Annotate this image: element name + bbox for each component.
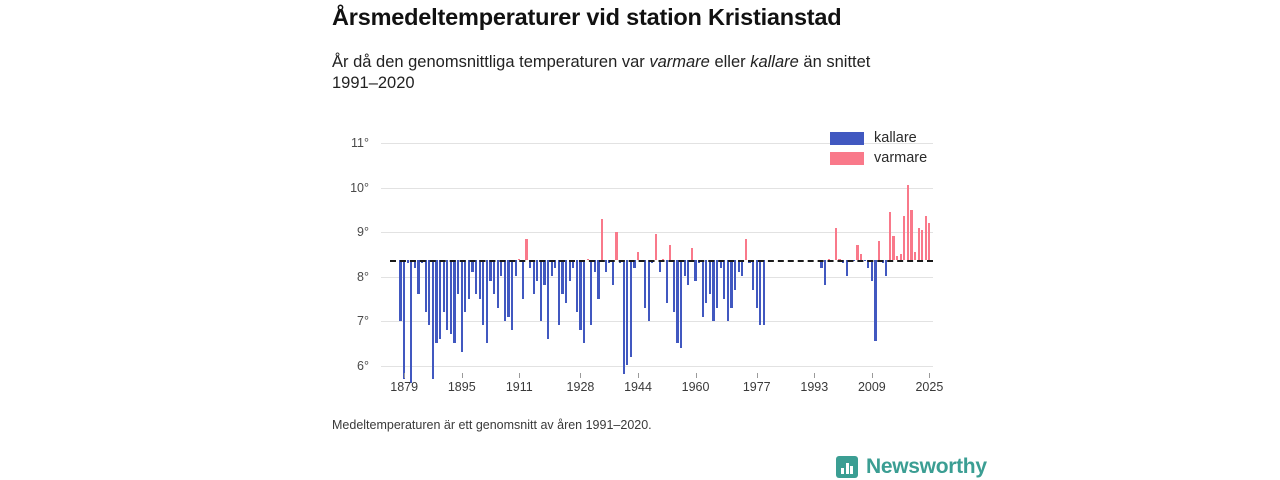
chart-bar[interactable]: [878, 241, 880, 260]
chart-bar[interactable]: [630, 260, 632, 357]
chart-bar[interactable]: [432, 260, 434, 379]
x-axis-label: 2025: [899, 380, 959, 394]
chart-bar[interactable]: [918, 228, 920, 260]
x-axis-tick: [696, 373, 697, 378]
chart-footnote: Medeltemperaturen är ett genomsnitt av å…: [332, 418, 652, 432]
chart-bar[interactable]: [759, 260, 761, 326]
chart-bar[interactable]: [687, 260, 689, 286]
y-gridline: [381, 366, 933, 367]
chart-bar[interactable]: [543, 260, 545, 286]
chart-bar[interactable]: [612, 260, 614, 286]
y-gridline: [381, 188, 933, 189]
x-axis-tick: [580, 373, 581, 378]
chart-bar[interactable]: [540, 260, 542, 321]
legend-label-kallare: kallare: [874, 130, 917, 146]
chart-bar[interactable]: [417, 260, 419, 295]
x-axis-tick: [404, 373, 405, 378]
chart-bar[interactable]: [590, 260, 592, 326]
y-axis-label: 7°: [329, 314, 369, 328]
chart-bar[interactable]: [569, 260, 571, 281]
chart-bar[interactable]: [453, 260, 455, 344]
chart-bar[interactable]: [601, 219, 603, 260]
chart-bar[interactable]: [644, 260, 646, 308]
chart-bar[interactable]: [500, 260, 502, 277]
chart-bar[interactable]: [763, 260, 765, 326]
chart-bar[interactable]: [507, 260, 509, 317]
chart-bar[interactable]: [565, 260, 567, 304]
x-axis-label: 1879: [374, 380, 434, 394]
chart-bar[interactable]: [551, 260, 553, 277]
chart-bar[interactable]: [928, 223, 930, 259]
x-axis-label: 1911: [489, 380, 549, 394]
chart-bar[interactable]: [435, 260, 437, 344]
chart-bar[interactable]: [666, 260, 668, 304]
chart-bar[interactable]: [734, 260, 736, 290]
chart-bar[interactable]: [428, 260, 430, 326]
chart-bar[interactable]: [446, 260, 448, 330]
chart-bar[interactable]: [525, 239, 527, 260]
chart-bar[interactable]: [871, 260, 873, 281]
chart-bar[interactable]: [892, 236, 894, 259]
chart-bar[interactable]: [443, 260, 445, 313]
chart-bar[interactable]: [504, 260, 506, 321]
chart-bar[interactable]: [669, 245, 671, 259]
chart-bar[interactable]: [468, 260, 470, 299]
chart-bar[interactable]: [623, 260, 625, 375]
x-axis-label: 1960: [666, 380, 726, 394]
x-axis-tick: [929, 373, 930, 378]
chart-bar[interactable]: [694, 260, 696, 281]
chart-bar[interactable]: [522, 260, 524, 299]
y-axis-label: 8°: [329, 270, 369, 284]
chart-bar[interactable]: [579, 260, 581, 330]
chart-bar[interactable]: [482, 260, 484, 326]
chart-bar[interactable]: [680, 260, 682, 348]
chart-bar[interactable]: [479, 260, 481, 299]
chart-bar[interactable]: [637, 252, 639, 260]
legend-item-kallare[interactable]: kallare: [830, 128, 927, 148]
y-axis-label: 6°: [329, 359, 369, 373]
chart-bar[interactable]: [558, 260, 560, 326]
legend-swatch-kallare: [830, 132, 864, 145]
legend-label-varmare: varmare: [874, 150, 927, 166]
chart-bar[interactable]: [712, 260, 714, 321]
chart-bar[interactable]: [515, 260, 517, 277]
legend-swatch-varmare: [830, 152, 864, 165]
chart-bar[interactable]: [709, 260, 711, 295]
x-axis-label: 1993: [784, 380, 844, 394]
y-axis-label: 11°: [329, 136, 369, 150]
chart-bar[interactable]: [403, 260, 405, 379]
chart-bar[interactable]: [903, 216, 905, 259]
y-gridline: [381, 321, 933, 322]
chart-bar[interactable]: [910, 210, 912, 260]
chart-bar[interactable]: [716, 260, 718, 308]
chart-bar[interactable]: [439, 260, 441, 339]
x-axis-tick: [462, 373, 463, 378]
x-axis-tick: [757, 373, 758, 378]
chart-bar[interactable]: [489, 260, 491, 281]
chart-bar[interactable]: [493, 260, 495, 295]
x-axis-label: 1928: [550, 380, 610, 394]
x-axis-tick: [872, 373, 873, 378]
chart-bar[interactable]: [561, 260, 563, 295]
chart-bar[interactable]: [547, 260, 549, 339]
chart-bar[interactable]: [684, 260, 686, 277]
chart-bar[interactable]: [752, 260, 754, 290]
bar-chart-icon: [836, 456, 858, 478]
reference-line: [390, 260, 933, 262]
x-axis-label: 1895: [432, 380, 492, 394]
chart-bar[interactable]: [925, 216, 927, 259]
chart-bar[interactable]: [705, 260, 707, 304]
x-axis-label: 2009: [842, 380, 902, 394]
chart-bar[interactable]: [856, 245, 858, 259]
bar-chart-plot: 6°7°8°9°10°11°18791895191119281944196019…: [0, 0, 1280, 480]
chart-bar[interactable]: [835, 228, 837, 260]
chart-bar[interactable]: [756, 260, 758, 308]
chart-bar[interactable]: [615, 232, 617, 260]
chart-legend: kallare varmare: [830, 128, 927, 168]
chart-bar[interactable]: [730, 260, 732, 308]
chart-bar[interactable]: [410, 260, 412, 384]
chart-bar[interactable]: [648, 260, 650, 321]
x-axis-tick: [814, 373, 815, 378]
chart-bar[interactable]: [576, 260, 578, 313]
chart-bar[interactable]: [655, 234, 657, 259]
chart-bar[interactable]: [907, 185, 909, 259]
chart-bar[interactable]: [511, 260, 513, 330]
chart-bar[interactable]: [450, 260, 452, 335]
chart-bar[interactable]: [874, 260, 876, 341]
chart-bar[interactable]: [885, 260, 887, 277]
chart-bar[interactable]: [425, 260, 427, 313]
chart-bar[interactable]: [723, 260, 725, 299]
chart-bar[interactable]: [745, 239, 747, 260]
chart-bar[interactable]: [676, 260, 678, 344]
chart-bar[interactable]: [889, 212, 891, 260]
newsworthy-logo[interactable]: Newsworthy: [836, 455, 987, 479]
chart-bar[interactable]: [626, 260, 628, 366]
chart-bar[interactable]: [691, 248, 693, 260]
chart-bar[interactable]: [673, 260, 675, 313]
chart-bar[interactable]: [533, 260, 535, 295]
chart-bar[interactable]: [727, 260, 729, 321]
chart-bar[interactable]: [497, 260, 499, 308]
chart-bar[interactable]: [536, 260, 538, 281]
chart-bar[interactable]: [824, 260, 826, 286]
y-axis-label: 10°: [329, 181, 369, 195]
x-axis-label: 1977: [727, 380, 787, 394]
chart-bar[interactable]: [399, 260, 401, 321]
y-gridline: [381, 232, 933, 233]
x-axis-tick: [638, 373, 639, 378]
chart-bar[interactable]: [461, 260, 463, 353]
y-axis-label: 9°: [329, 225, 369, 239]
chart-bar[interactable]: [464, 260, 466, 313]
chart-bar[interactable]: [846, 260, 848, 277]
chart-bar[interactable]: [702, 260, 704, 317]
chart-bar[interactable]: [741, 260, 743, 277]
chart-bar[interactable]: [486, 260, 488, 344]
chart-bar[interactable]: [597, 260, 599, 299]
legend-item-varmare[interactable]: varmare: [830, 148, 927, 168]
chart-bar[interactable]: [914, 252, 916, 260]
chart-bar[interactable]: [921, 230, 923, 260]
chart-bar[interactable]: [583, 260, 585, 344]
x-axis-label: 1944: [608, 380, 668, 394]
chart-bar[interactable]: [457, 260, 459, 295]
x-axis-tick: [519, 373, 520, 378]
chart-page: Årsmedeltemperaturer vid station Kristia…: [0, 0, 1280, 480]
logo-text: Newsworthy: [866, 455, 987, 479]
chart-bar[interactable]: [475, 260, 477, 295]
